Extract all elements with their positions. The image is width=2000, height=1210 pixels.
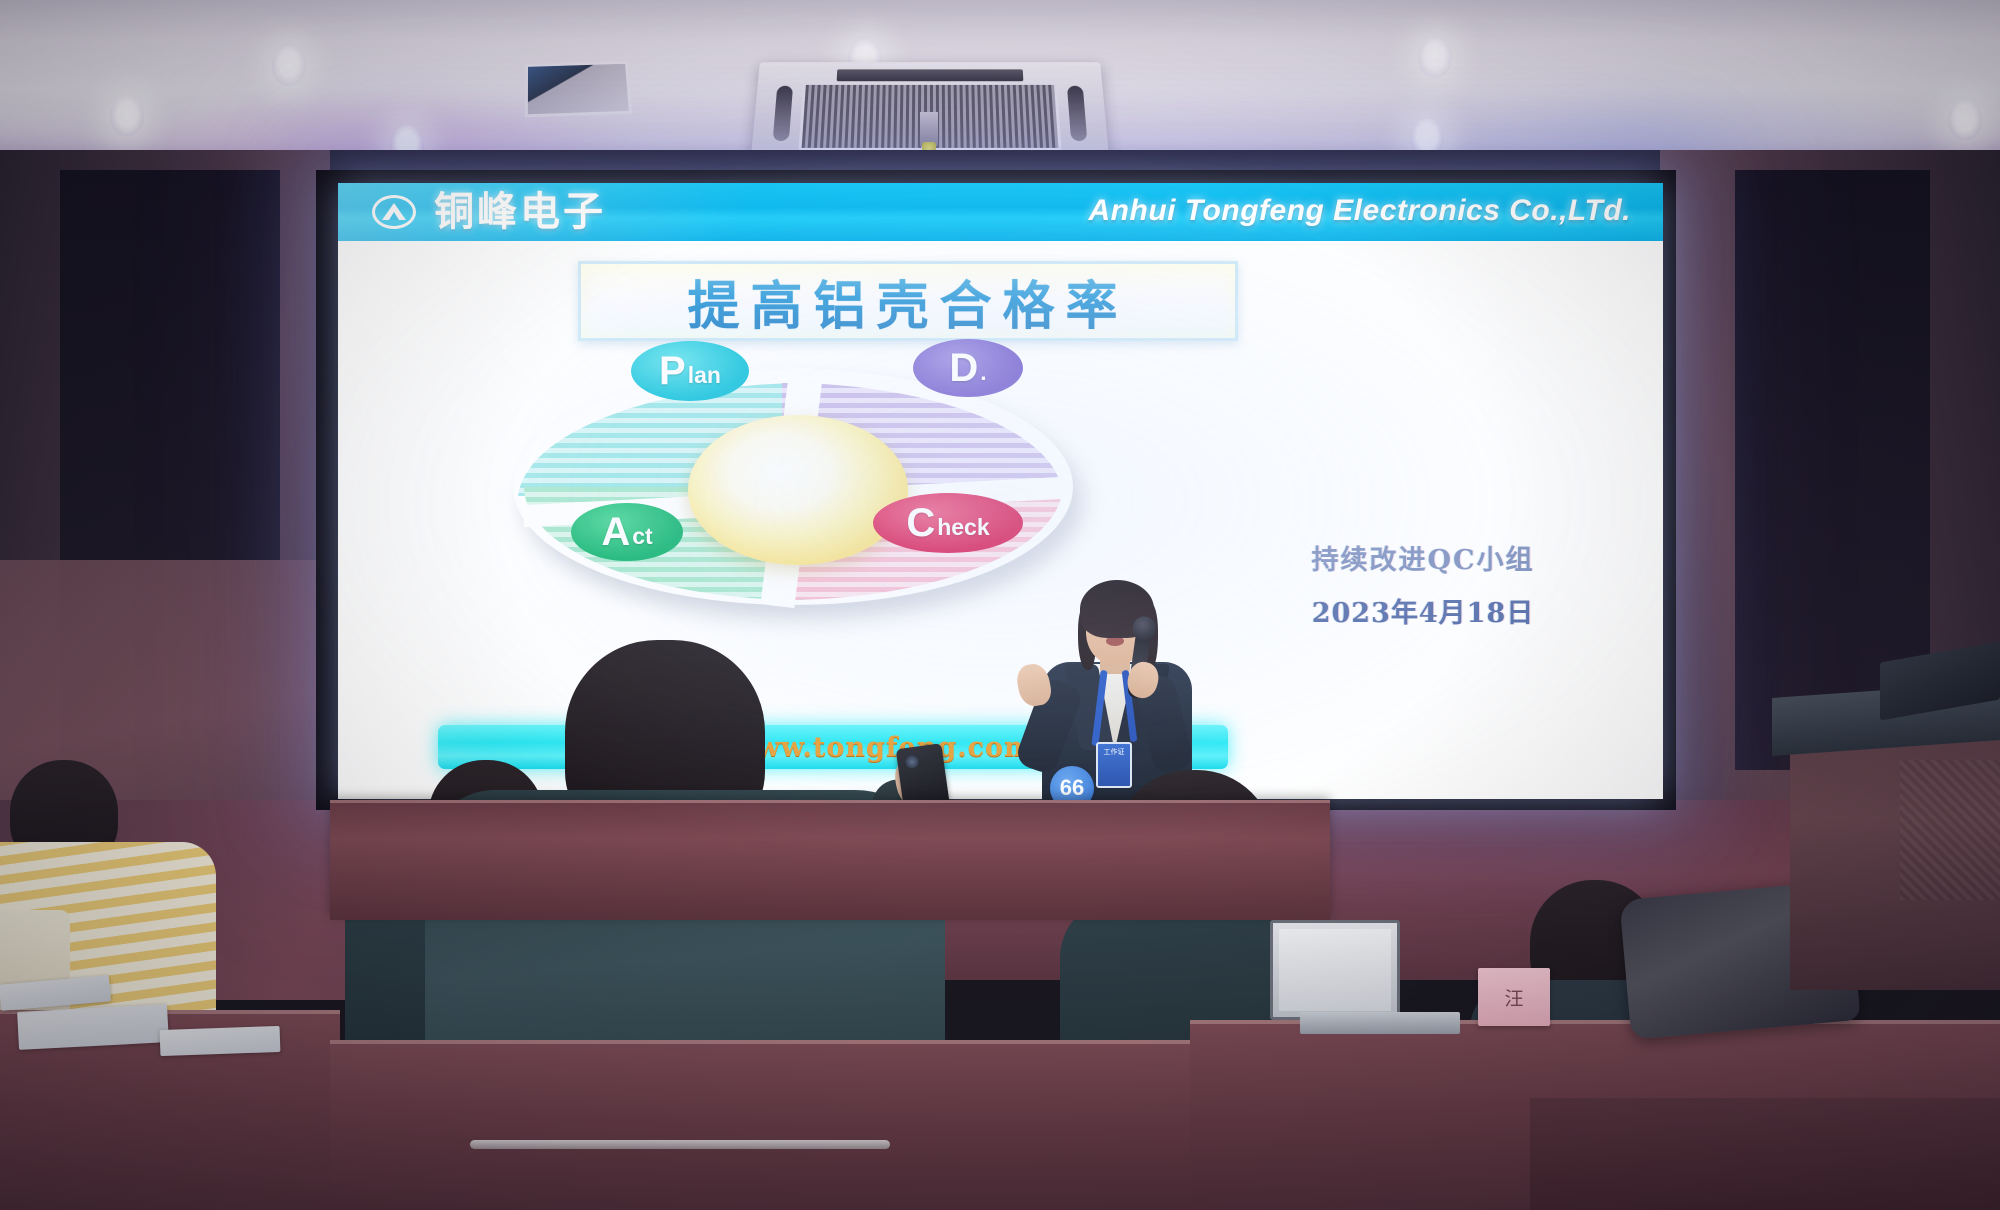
ac-slot (837, 69, 1024, 81)
ceiling-vent-panel (525, 61, 632, 117)
presenter-hand-left (1015, 662, 1054, 709)
desk-right-front (1530, 1098, 2000, 1210)
seat-rail-mid (470, 1140, 890, 1149)
pdca-check-big: C (906, 501, 935, 546)
slide-title: 提高铝壳合格率 (687, 264, 1128, 339)
pdca-plan-big: P (659, 349, 686, 394)
notebook-left (160, 1026, 281, 1056)
downlight-icon (110, 96, 144, 136)
slide-title-box: 提高铝壳合格率 (578, 261, 1238, 341)
pdca-label-check: C heck (873, 493, 1023, 553)
ac-vent-left (773, 86, 793, 141)
tongfeng-logo-icon (372, 195, 416, 229)
podium-mesh (1900, 760, 2000, 900)
downlight-icon (1948, 100, 1982, 140)
pdca-label-act: A ct (571, 503, 683, 561)
conference-room-photo: 铜峰电子 Anhui Tongfeng Electronics Co.,LTd.… (0, 0, 2000, 1210)
company-name-cn: 铜峰电子 (434, 192, 606, 232)
seat-row-back (330, 800, 1330, 920)
keyboard (1300, 1012, 1460, 1034)
slide-header-bar: 铜峰电子 Anhui Tongfeng Electronics Co.,LTd. (338, 183, 1663, 241)
slide-date: 2023年4月18日 (1243, 591, 1603, 630)
name-placard: 汪 (1478, 968, 1550, 1026)
pdca-label-plan: P lan (631, 341, 749, 401)
ceiling-sensor (920, 112, 938, 146)
pdca-center-sphere (688, 415, 908, 565)
slide-side-info: 持续改进QC小组 2023年4月18日 (1243, 538, 1603, 630)
pdca-check-small: heck (937, 514, 989, 541)
monitor-screen (1279, 929, 1391, 1011)
pdca-do-small: . (980, 359, 986, 386)
pdca-plan-small: lan (688, 362, 721, 389)
pdca-label-do: D . (913, 339, 1023, 397)
downlight-icon (1418, 38, 1452, 78)
ac-vent-right (1067, 86, 1087, 141)
desk-monitor (1270, 920, 1400, 1020)
pdca-do-big: D (949, 346, 978, 391)
pdca-act-big: A (601, 510, 630, 555)
pdca-act-small: ct (632, 523, 652, 550)
paper-left (17, 1004, 169, 1050)
slide-team-name: 持续改进QC小组 (1243, 538, 1603, 577)
company-name-en: Anhui Tongfeng Electronics Co.,LTd. (1089, 194, 1631, 228)
downlight-icon (272, 46, 306, 86)
pdca-cycle-diagram: P lan D . A ct C heck (513, 333, 1073, 633)
